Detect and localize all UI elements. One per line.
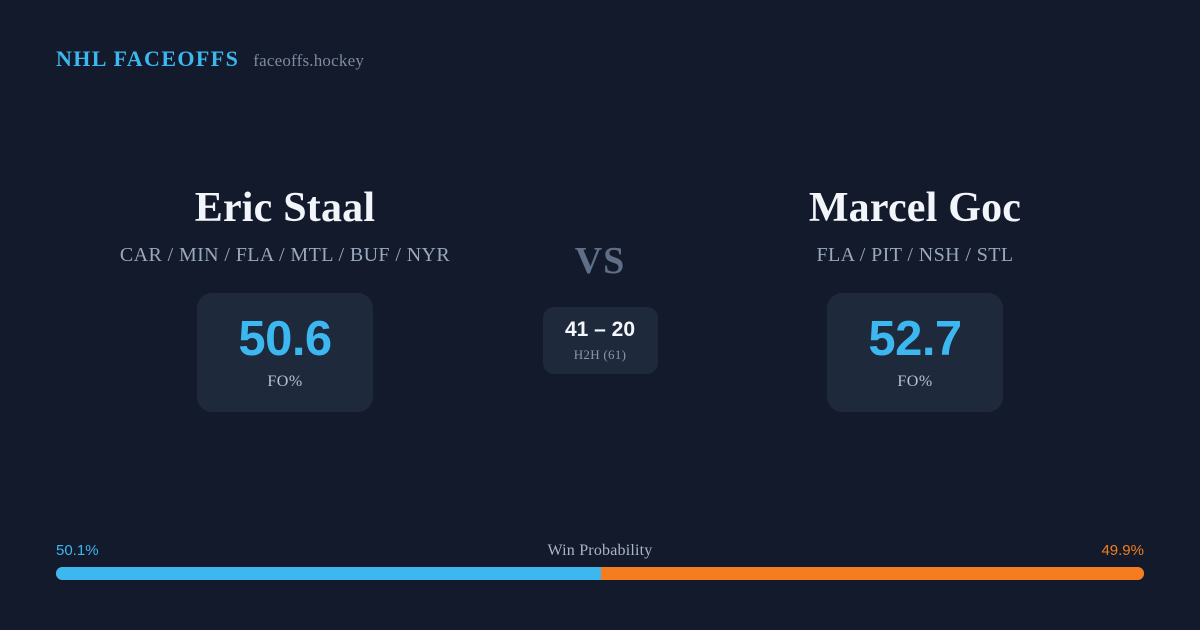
- head-to-head-box: 41 – 20 H2H (61): [543, 307, 658, 374]
- versus-label: VS: [575, 242, 626, 280]
- win-probability-bar: [56, 567, 1144, 580]
- brand-header: NHL FACEOFFS faceoffs.hockey: [56, 46, 364, 72]
- head-to-head-label: H2H (61): [574, 347, 627, 363]
- stat-value-left: 50.6: [238, 315, 331, 364]
- stat-label-right: FO%: [897, 373, 932, 391]
- player-name-right: Marcel Goc: [809, 186, 1021, 231]
- win-probability-left-value: 50.1%: [56, 542, 99, 559]
- stat-card-right: 52.7 FO%: [827, 293, 1003, 412]
- win-probability-right-value: 49.9%: [1101, 542, 1144, 559]
- brand-domain: faceoffs.hockey: [253, 51, 364, 71]
- win-probability-labels: 50.1% Win Probability 49.9%: [56, 542, 1144, 560]
- player-card-right[interactable]: Marcel Goc FLA / PIT / NSH / STL 52.7 FO…: [680, 186, 1150, 412]
- win-probability-bar-right-fill: [601, 567, 1144, 580]
- matchup-section: Eric Staal CAR / MIN / FLA / MTL / BUF /…: [0, 186, 1200, 412]
- versus-column: VS 41 – 20 H2H (61): [520, 186, 680, 374]
- win-probability-section: 50.1% Win Probability 49.9%: [56, 542, 1144, 580]
- win-probability-title: Win Probability: [547, 542, 652, 560]
- head-to-head-record: 41 – 20: [565, 319, 635, 340]
- stat-card-left: 50.6 FO%: [197, 293, 373, 412]
- player-card-left[interactable]: Eric Staal CAR / MIN / FLA / MTL / BUF /…: [50, 186, 520, 412]
- player-teams-left: CAR / MIN / FLA / MTL / BUF / NYR: [120, 244, 450, 267]
- stat-label-left: FO%: [267, 373, 302, 391]
- player-teams-right: FLA / PIT / NSH / STL: [817, 244, 1014, 267]
- brand-title: NHL FACEOFFS: [56, 46, 239, 72]
- player-name-left: Eric Staal: [195, 186, 375, 231]
- stat-value-right: 52.7: [868, 315, 961, 364]
- win-probability-bar-left-fill: [56, 567, 601, 580]
